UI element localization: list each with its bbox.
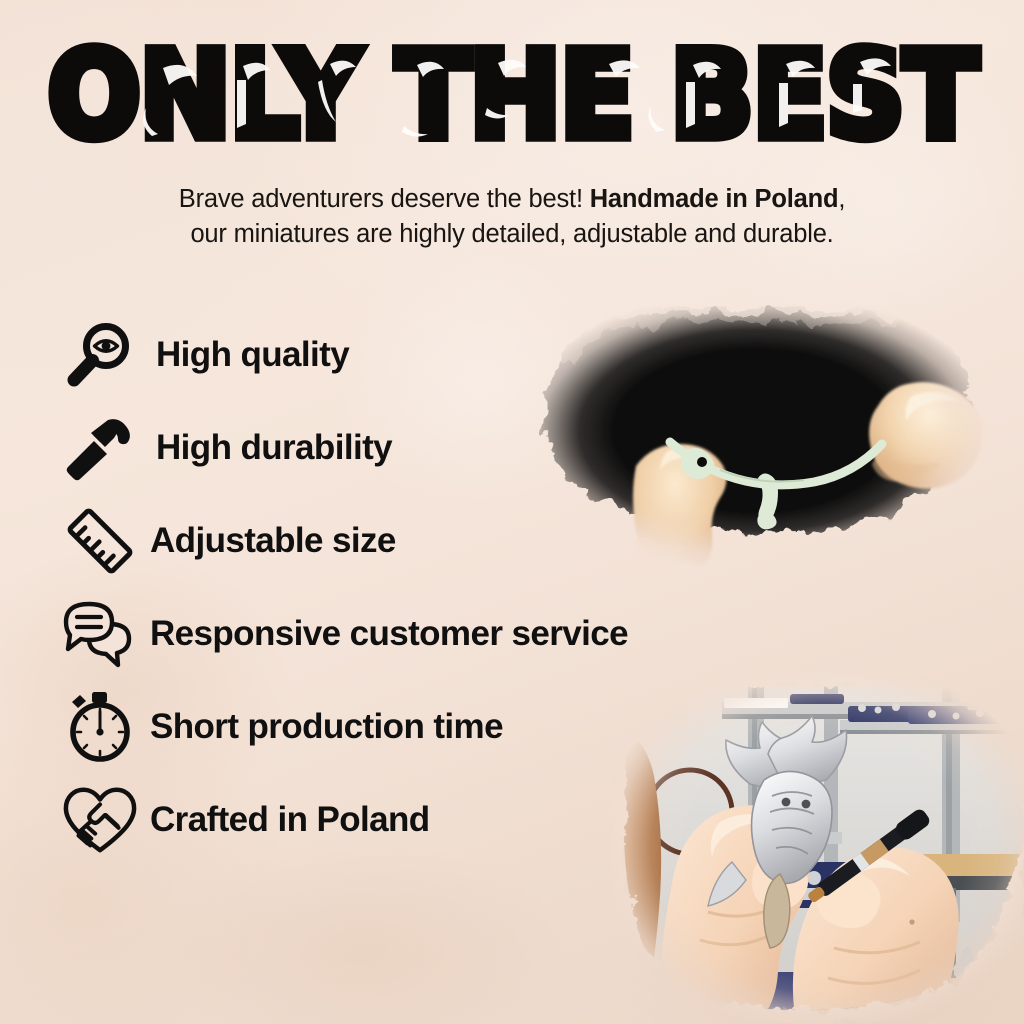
infographic-page: ONLY THE BEST: [0, 0, 1024, 1024]
feature-label: High quality: [156, 335, 349, 375]
magnifier-eye-icon: [62, 317, 138, 393]
page-subtitle: Brave adventurers deserve the best! Hand…: [62, 182, 962, 252]
photo-bending-miniature: [520, 278, 990, 583]
subtitle-line-2: our miniatures are highly detailed, adju…: [190, 220, 833, 248]
hammer-icon: [62, 410, 138, 486]
subtitle-highlight: Handmade in Poland: [590, 185, 839, 213]
subtitle-text-pre: Brave adventurers deserve the best!: [179, 185, 590, 213]
feature-label: Crafted in Poland: [150, 800, 430, 840]
feature-label: Responsive customer service: [150, 614, 628, 654]
stopwatch-icon: [62, 689, 138, 765]
subtitle-text-post: ,: [838, 185, 845, 213]
page-title-wrap: ONLY THE BEST: [0, 38, 1024, 138]
page-title: ONLY THE BEST: [47, 38, 976, 154]
feature-item-responsive-customer-service: Responsive customer service: [62, 587, 782, 680]
paper-texture-blotch: [150, 840, 570, 1024]
subtitle-line-1: Brave adventurers deserve the best! Hand…: [179, 185, 845, 213]
feature-label: High durability: [156, 428, 392, 468]
photo-painting-dragon: [612, 672, 1024, 1024]
feature-label: Adjustable size: [150, 521, 396, 561]
feature-label: Short production time: [150, 707, 503, 747]
speech-bubbles-icon: [62, 596, 138, 672]
ruler-icon: [62, 503, 138, 579]
heart-handshake-icon: [62, 782, 138, 858]
